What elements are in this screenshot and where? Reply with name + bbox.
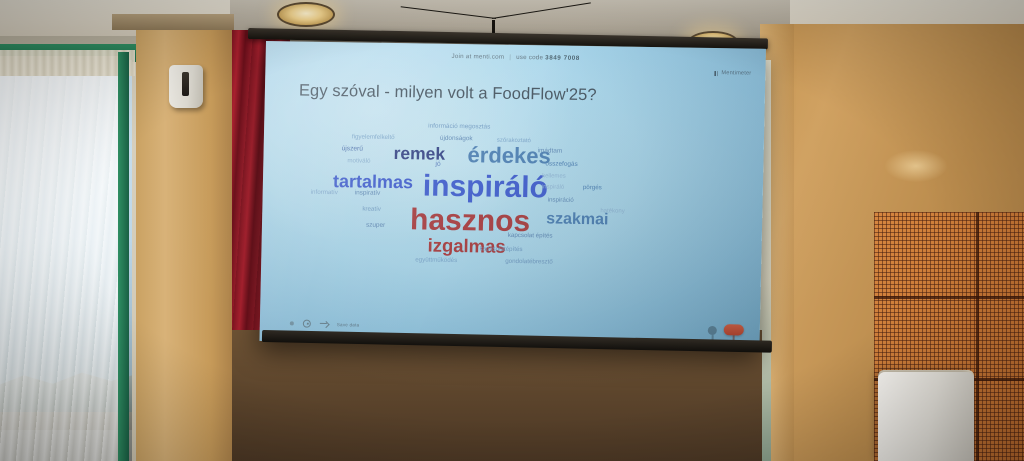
- photo-scene: Airsence Air Purifier Model 2020 Join at…: [0, 0, 1024, 461]
- word-cloud-term: kapcsolat építés: [508, 233, 553, 240]
- join-domain: menti.com: [473, 53, 504, 60]
- screen-hook-icon: [492, 20, 495, 34]
- word-cloud-term: tartalmas: [333, 172, 413, 191]
- slide-toolbar[interactable]: Save data: [290, 319, 360, 328]
- word-cloud-term: hatékony: [600, 208, 624, 214]
- word-cloud-term: figyelemfelkeltő: [352, 134, 395, 141]
- ceiling-light-icon: [277, 2, 335, 27]
- use-code-label: use code: [516, 54, 543, 61]
- word-cloud-term: kreatív: [362, 207, 381, 213]
- word-cloud-term: együttműködés: [415, 257, 457, 264]
- word-cloud-term: újszerű: [342, 146, 363, 153]
- word-cloud-term: pörgés: [583, 185, 602, 191]
- word-cloud-term: összefogás: [545, 161, 577, 168]
- panel-seam: [976, 212, 979, 461]
- join-separator: |: [509, 54, 511, 61]
- sanitizer-dispenser-icon[interactable]: [169, 65, 203, 108]
- close-button[interactable]: [724, 324, 744, 335]
- panel-seam: [874, 296, 1024, 299]
- mentimeter-slide[interactable]: Join at menti.com | use code 3849 7008 M…: [259, 41, 765, 349]
- toolbar-dot-icon: [290, 321, 294, 325]
- projector-screen[interactable]: Join at menti.com | use code 3849 7008 M…: [259, 41, 765, 349]
- curtain-valance: [0, 50, 135, 76]
- column-header-trim: [112, 14, 234, 30]
- join-code: 3849 7008: [545, 54, 580, 62]
- page-title: Egy szóval - milyen volt a FoodFlow'25?: [299, 82, 597, 106]
- wall-light-reflection: [885, 150, 947, 182]
- window-green-edge: [118, 52, 129, 461]
- reaction-button[interactable]: [708, 326, 717, 335]
- sheer-curtain: [0, 56, 120, 461]
- word-cloud-term: motiváló: [347, 158, 370, 165]
- word-cloud-term: inspiráció: [548, 197, 574, 204]
- pointer-icon[interactable]: [303, 320, 311, 328]
- word-cloud-term: újdonságok: [440, 136, 473, 143]
- arrow-right-icon[interactable]: [320, 320, 328, 328]
- join-instructions: Join at menti.com | use code 3849 7008: [266, 50, 766, 65]
- mentimeter-wordmark: Mentimeter: [721, 70, 751, 76]
- word-cloud-term: jó: [435, 162, 440, 169]
- word-cloud-term: szuper: [366, 223, 385, 230]
- word-cloud-term: szórakoztató: [497, 138, 531, 145]
- word-cloud-term: kellemes: [542, 173, 566, 179]
- word-cloud-term: inspiratív: [355, 190, 381, 197]
- word-cloud-term: informatív: [311, 190, 338, 197]
- join-prefix: Join at: [451, 53, 471, 60]
- mentimeter-mark-icon: [714, 71, 719, 76]
- word-cloud-term: szakmai: [546, 211, 609, 228]
- word-cloud-term: információ megosztás: [428, 124, 490, 131]
- word-cloud-term: imádtam: [538, 148, 563, 155]
- word-cloud-term: gondolatébresztő: [505, 259, 553, 266]
- word-cloud-term: inspiráló: [542, 184, 564, 190]
- word-cloud: inspirálóhasznosérdekestartalmasizgalmas…: [309, 120, 722, 276]
- word-cloud-term: inspiráló: [423, 171, 549, 203]
- toolbar-label[interactable]: Save data: [337, 322, 360, 327]
- word-cloud-term: kapcsolatépítés: [479, 246, 522, 253]
- air-purifier[interactable]: Airsence Air Purifier Model 2020: [878, 372, 974, 461]
- slide-actions[interactable]: [708, 324, 744, 336]
- mentimeter-logo: Mentimeter: [714, 70, 752, 77]
